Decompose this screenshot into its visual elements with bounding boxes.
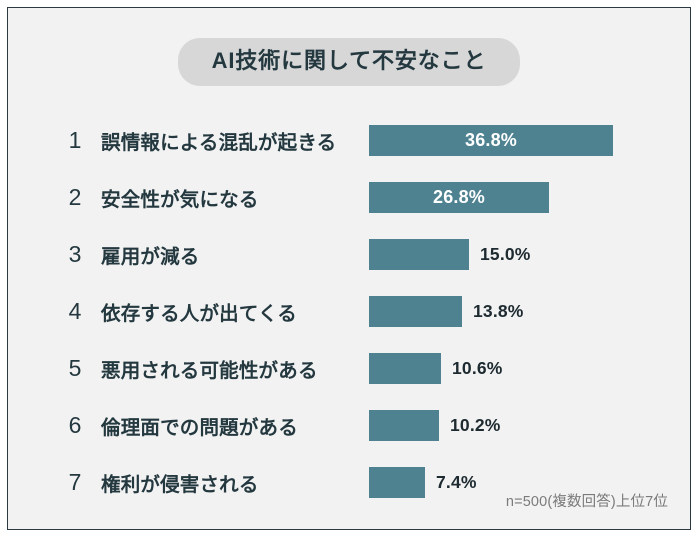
list-item: 2 安全性が気になる 26.8%: [8, 169, 690, 226]
category-label: 倫理面での問題がある: [101, 411, 298, 440]
list-item: 4 依存する人が出てくる 13.8%: [8, 283, 690, 340]
rank-number: 5: [62, 355, 88, 382]
rank-number: 6: [62, 412, 88, 439]
bar-value-label: 10.2%: [450, 415, 501, 436]
bar: [369, 296, 462, 327]
bar-value-label: 7.4%: [436, 472, 477, 493]
bar-value-label: 10.6%: [452, 358, 503, 379]
rank-number: 7: [62, 469, 88, 496]
infographic-card: AI技術に関して不安なこと 1 誤情報による混乱が起きる 36.8% 2 安全性…: [7, 7, 691, 530]
bar-value-label: 26.8%: [433, 187, 485, 208]
bar-area: 10.2%: [369, 410, 690, 441]
list-item: 3 雇用が減る 15.0%: [8, 226, 690, 283]
category-label: 依存する人が出てくる: [101, 297, 297, 326]
sample-size-note: n=500(複数回答)上位7位: [506, 490, 668, 511]
bar: [369, 353, 441, 384]
rank-number: 3: [62, 241, 88, 268]
bar: [369, 239, 469, 270]
category-label: 雇用が減る: [101, 240, 199, 269]
bar-area: 36.8%: [369, 125, 690, 156]
category-label: 権利が侵害される: [101, 468, 259, 497]
bar: 26.8%: [369, 182, 549, 213]
list-item: 6 倫理面での問題がある 10.2%: [8, 397, 690, 454]
list-item: 1 誤情報による混乱が起きる 36.8%: [8, 112, 690, 169]
bar-value-label: 36.8%: [465, 130, 517, 151]
bar: 36.8%: [369, 125, 613, 156]
bar-value-label: 13.8%: [473, 301, 524, 322]
ranking-list: 1 誤情報による混乱が起きる 36.8% 2 安全性が気になる 26.8% 3 …: [8, 112, 690, 511]
bar-area: 26.8%: [369, 182, 690, 213]
bar-area: 13.8%: [369, 296, 690, 327]
category-label: 悪用される可能性がある: [101, 354, 318, 383]
rank-number: 1: [62, 127, 88, 154]
bar: [369, 467, 425, 498]
rank-number: 4: [62, 298, 88, 325]
bar-area: 15.0%: [369, 239, 690, 270]
category-label: 安全性が気になる: [101, 183, 259, 212]
title-container: AI技術に関して不安なこと: [8, 38, 690, 86]
bar-area: 10.6%: [369, 353, 690, 384]
bar: [369, 410, 439, 441]
rank-number: 2: [62, 184, 88, 211]
page-title: AI技術に関して不安なこと: [178, 38, 521, 86]
category-label: 誤情報による混乱が起きる: [101, 126, 336, 155]
bar-value-label: 15.0%: [480, 244, 531, 265]
list-item: 5 悪用される可能性がある 10.6%: [8, 340, 690, 397]
